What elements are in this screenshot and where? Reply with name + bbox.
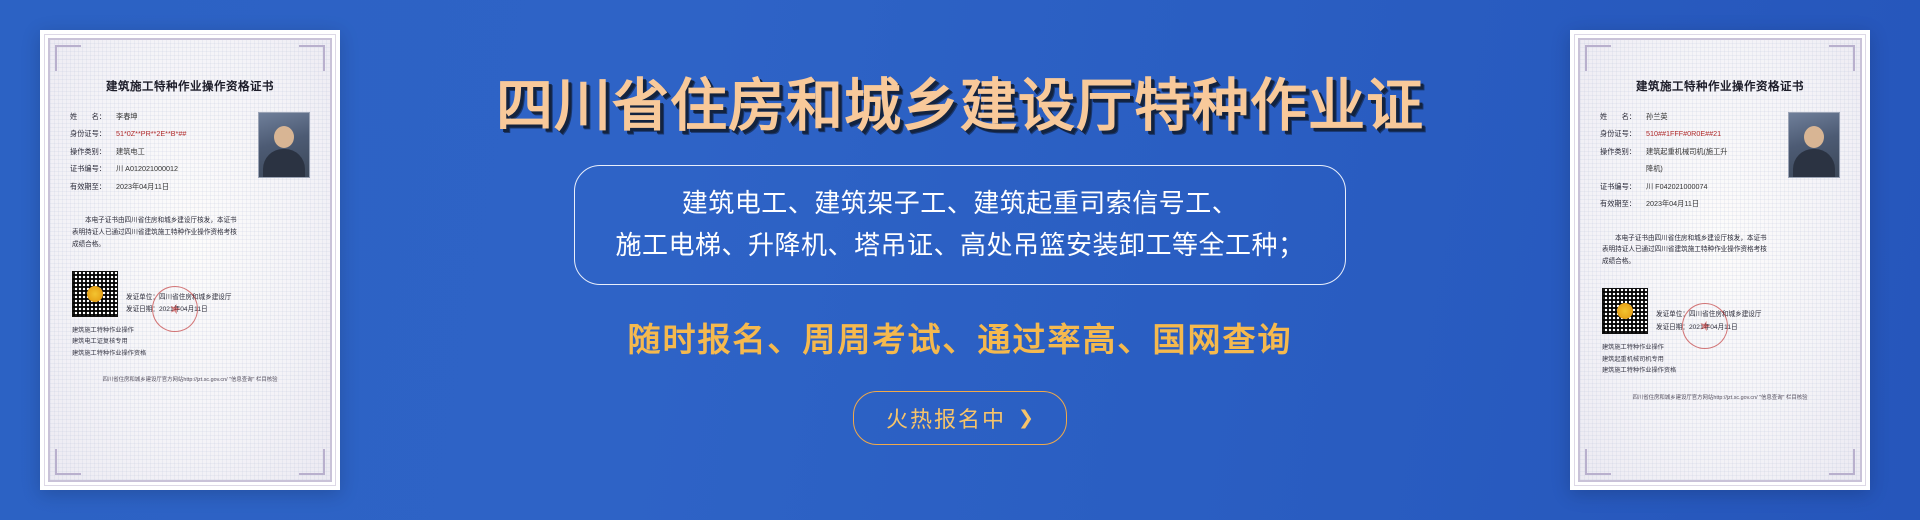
issue-unit-label: 发证单位： [1656,311,1689,318]
issue-unit-line: 发证单位：四川省住房和城乡建设厅 [1656,309,1838,322]
certificate-note-left: 本电子证书由四川省住房和城乡建设厅核发，本证书 表明持证人已通过四川省建筑施工特… [62,215,318,251]
certificate-note-right: 本电子证书由四川省住房和城乡建设厅核发，本证书 表明持证人已通过四川省建筑施工特… [1592,233,1848,269]
corner-ornament-icon [299,449,325,475]
field-label: 身份证号： [1600,129,1646,139]
label-line: 建筑电工证复核专用 [72,336,308,347]
promo-slogan: 随时报名、周周考试、通过率高、国网查询 [628,313,1293,361]
field-label: 证书编号： [1600,182,1646,192]
course-scope-box: 建筑电工、建筑架子工、建筑起重司索信号工、 施工电梯、升降机、塔吊证、高处吊篮安… [574,165,1345,285]
note-line: 表明持证人已通过四川省建筑施工特种作业操作资格考核 [1602,244,1838,256]
field-row: 降机) [1600,164,1782,174]
certificate-verify-note-left: 四川省住房和城乡建设厅官方网站http://jzt.sc.gov.cn/ "信息… [62,375,318,383]
field-value: 510##1FFF#0R0E##21 [1646,129,1721,139]
label-line: 建筑施工特种作业操作 [72,325,308,336]
label-line: 建筑施工特种作业操作资格 [1602,365,1838,376]
field-row: 身份证号： 51*0Z**PR**2E**B*## [70,129,252,139]
field-value: 2023年04月11日 [116,182,169,192]
banner-center-content: 四川省住房和城乡建设厅特种作业证 建筑电工、建筑架子工、建筑起重司索信号工、 施… [360,0,1560,520]
field-label [1600,164,1646,174]
certificate-photo-left [258,112,310,178]
field-row: 操作类别： 建筑起重机械司机(施工升 [1600,147,1782,157]
field-row: 有效期至： 2023年04月11日 [70,182,252,192]
certificate-fields-left: 姓 名： 李春坤 身份证号： 51*0Z**PR**2E**B*## 操作类别：… [70,112,252,199]
certificate-footer-right: 发证单位：四川省住房和城乡建设厅 发证日期：2021年04月11日 [1592,288,1848,334]
field-row: 证书编号： 川 A012021000012 [70,164,252,174]
note-line: 成绩合格。 [72,239,308,251]
field-value: 降机) [1646,164,1663,174]
corner-ornament-icon [55,45,81,71]
issue-date-label: 发证日期： [1656,324,1689,331]
certificate-title-left: 建筑施工特种作业操作资格证书 [62,78,318,94]
label-line: 建筑施工特种作业操作 [1602,342,1838,353]
certificate-issuer-right: 发证单位：四川省住房和城乡建设厅 发证日期：2021年04月11日 [1656,309,1838,334]
label-line: 建筑起重机械司机专用 [1602,354,1838,365]
field-row: 身份证号： 510##1FFF#0R0E##21 [1600,129,1782,139]
issue-unit-value: 四川省住房和城乡建设厅 [159,294,232,301]
course-scope-line-1: 建筑电工、建筑架子工、建筑起重司索信号工、 [615,182,1304,224]
field-label: 证书编号： [70,164,116,174]
certificate-photo-right [1788,112,1840,178]
note-line: 表明持证人已通过四川省建筑施工特种作业操作资格考核 [72,227,308,239]
corner-ornament-icon [1585,449,1611,475]
certificate-labels-right: 建筑施工特种作业操作 建筑起重机械司机专用 建筑施工特种作业操作资格 [1592,342,1848,376]
promo-banner: 建筑施工特种作业操作资格证书 姓 名： 李春坤 身份证号： 51*0Z**PR*… [0,0,1920,520]
issue-date-line: 发证日期：2021年04月11日 [1656,322,1838,335]
issue-unit-line: 发证单位：四川省住房和城乡建设厅 [126,292,308,305]
certificate-title-right: 建筑施工特种作业操作资格证书 [1592,78,1848,94]
corner-ornament-icon [1829,449,1855,475]
certificate-card-left: 建筑施工特种作业操作资格证书 姓 名： 李春坤 身份证号： 51*0Z**PR*… [40,30,340,490]
field-value: 建筑电工 [116,147,145,157]
enroll-cta-button[interactable]: 火热报名中 ❯ [853,391,1067,445]
corner-ornament-icon [55,449,81,475]
field-value: 李春坤 [116,112,138,122]
note-line: 本电子证书由四川省住房和城乡建设厅核发，本证书 [1602,233,1838,245]
field-label: 操作类别： [70,147,116,157]
certificate-body-left: 姓 名： 李春坤 身份证号： 51*0Z**PR**2E**B*## 操作类别：… [62,112,318,199]
field-value: 川 F042021000074 [1646,182,1708,192]
certificate-card-right: 建筑施工特种作业操作资格证书 姓 名： 孙兰英 身份证号： 510##1FFF#… [1570,30,1870,490]
certificate-labels-left: 建筑施工特种作业操作 建筑电工证复核专用 建筑施工特种作业操作资格 [62,325,318,359]
field-row: 有效期至： 2023年04月11日 [1600,199,1782,209]
label-line: 建筑施工特种作业操作资格 [72,348,308,359]
field-label: 姓 名： [1600,112,1646,122]
issue-date-value: 2021年04月11日 [1689,324,1738,331]
qr-code-icon [72,271,118,317]
field-value: 2023年04月11日 [1646,199,1699,209]
issue-date-line: 发证日期：2021年04月11日 [126,304,308,317]
enroll-cta-label: 火热报名中 [886,402,1006,434]
issue-date-value: 2021年04月11日 [159,306,208,313]
field-value: 川 A012021000012 [116,164,178,174]
issue-unit-value: 四川省住房和城乡建设厅 [1689,311,1762,318]
field-row: 姓 名： 孙兰英 [1600,112,1782,122]
note-line: 本电子证书由四川省住房和城乡建设厅核发，本证书 [72,215,308,227]
field-value: 51*0Z**PR**2E**B*## [116,129,186,139]
field-label: 姓 名： [70,112,116,122]
corner-ornament-icon [299,45,325,71]
field-row: 姓 名： 李春坤 [70,112,252,122]
field-row: 证书编号： 川 F042021000074 [1600,182,1782,192]
note-line: 成绩合格。 [1602,256,1838,268]
issue-date-label: 发证日期： [126,306,159,313]
certificate-inner-right: 建筑施工特种作业操作资格证书 姓 名： 孙兰英 身份证号： 510##1FFF#… [1578,38,1862,482]
certificate-verify-note-right: 四川省住房和城乡建设厅官方网站http://jzt.sc.gov.cn/ "信息… [1592,393,1848,401]
corner-ornament-icon [1829,45,1855,71]
course-scope-line-2: 施工电梯、升降机、塔吊证、高处吊篮安装卸工等全工种； [615,224,1304,266]
field-value: 建筑起重机械司机(施工升 [1646,147,1727,157]
field-row: 操作类别： 建筑电工 [70,147,252,157]
field-label: 身份证号： [70,129,116,139]
field-label: 操作类别： [1600,147,1646,157]
field-label: 有效期至： [70,182,116,192]
certificate-body-right: 姓 名： 孙兰英 身份证号： 510##1FFF#0R0E##21 操作类别： … [1592,112,1848,217]
certificate-issuer-left: 发证单位：四川省住房和城乡建设厅 发证日期：2021年04月11日 [126,292,308,317]
corner-ornament-icon [1585,45,1611,71]
page-title: 四川省住房和城乡建设厅特种作业证 [496,78,1424,135]
field-label: 有效期至： [1600,199,1646,209]
certificate-footer-left: 发证单位：四川省住房和城乡建设厅 发证日期：2021年04月11日 [62,271,318,317]
certificate-fields-right: 姓 名： 孙兰英 身份证号： 510##1FFF#0R0E##21 操作类别： … [1600,112,1782,217]
issue-unit-label: 发证单位： [126,294,159,301]
chevron-right-icon: ❯ [1018,409,1034,428]
field-value: 孙兰英 [1646,112,1668,122]
certificate-inner-left: 建筑施工特种作业操作资格证书 姓 名： 李春坤 身份证号： 51*0Z**PR*… [48,38,332,482]
qr-code-icon [1602,288,1648,334]
